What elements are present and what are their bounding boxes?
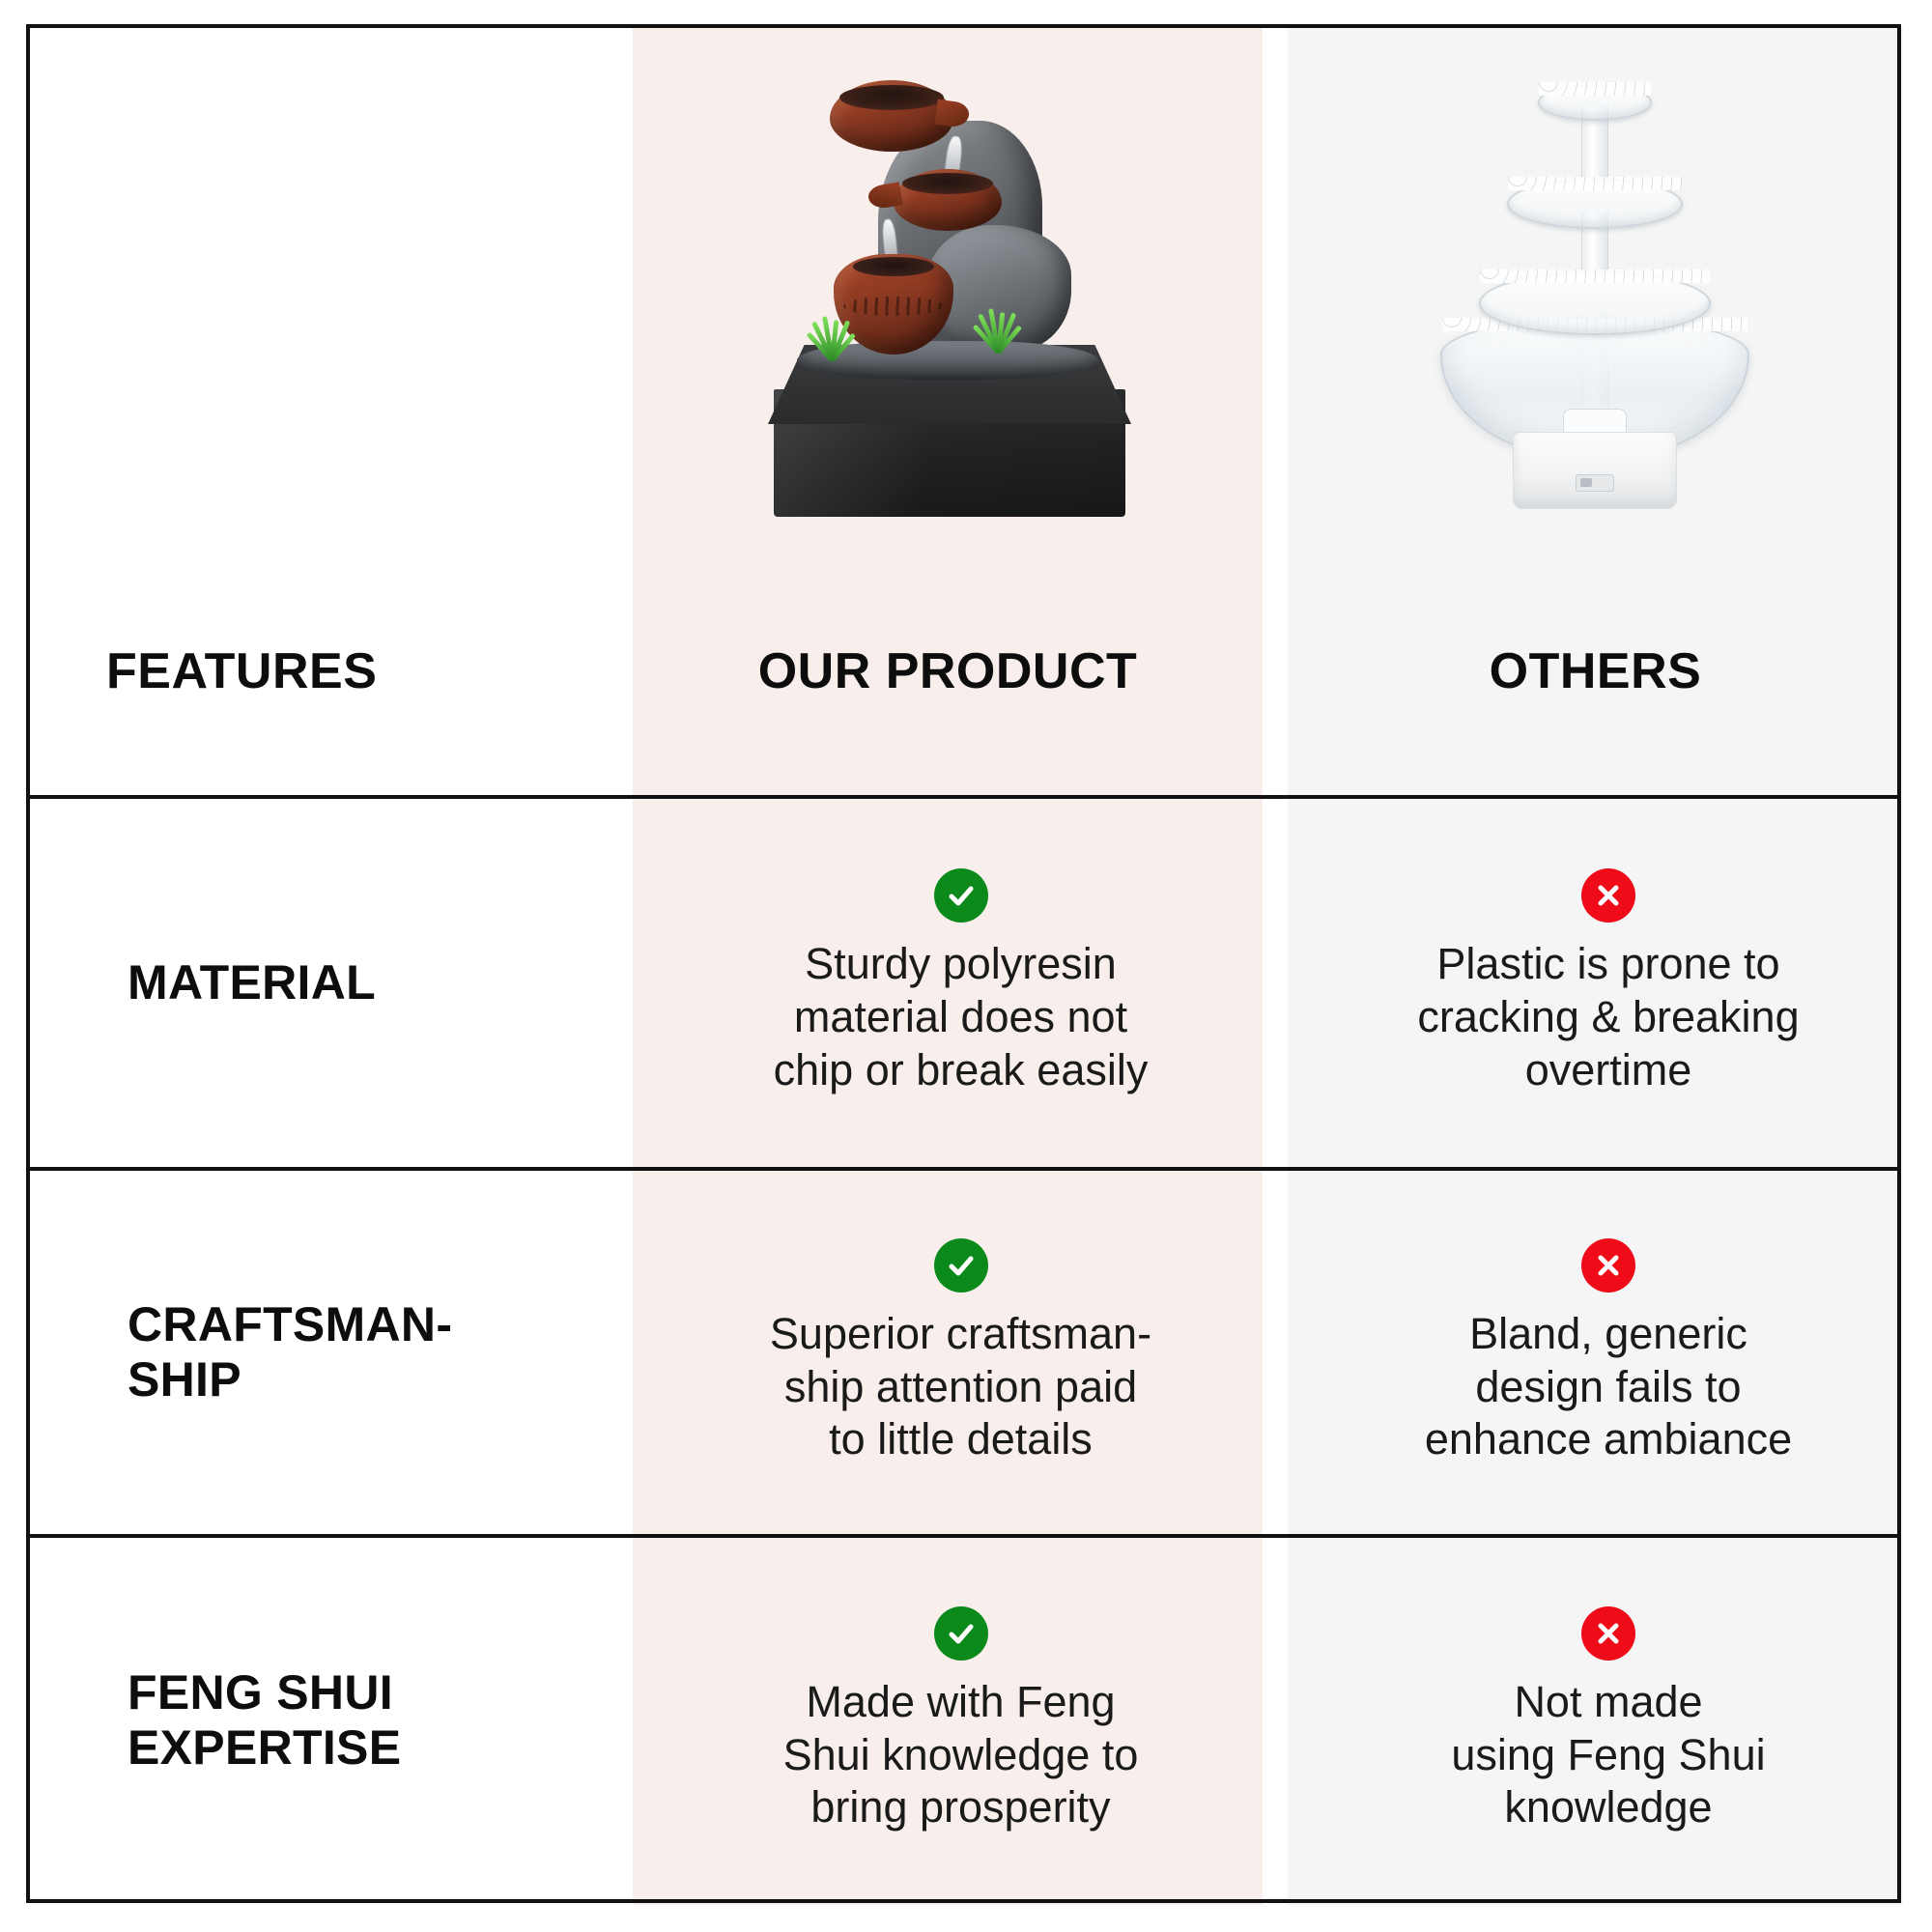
column-header-features: FEATURES: [106, 618, 377, 724]
check-icon: [934, 1238, 988, 1293]
column-header-our-product-label: OUR PRODUCT: [758, 645, 1138, 698]
our-product-cell-feng-shui: Made with Feng Shui knowledge to bring p…: [633, 1538, 1289, 1903]
plastic-fountain-image: [1402, 49, 1788, 503]
grass-tuft-right: [965, 302, 1027, 353]
check-icon: [934, 868, 988, 923]
column-header-others-label: OTHERS: [1490, 645, 1702, 698]
our-product-cell-material: Sturdy polyresin material does not chip …: [633, 799, 1289, 1167]
our-product-text-feng-shui: Made with Feng Shui knowledge to bring p…: [783, 1676, 1139, 1835]
pot-fountain-image: [756, 55, 1143, 499]
cross-icon: [1581, 1606, 1635, 1661]
table-row: MATERIAL Sturdy polyresin material does …: [26, 799, 1901, 1167]
cross-icon: [1581, 1238, 1635, 1293]
fountain-power-switch: [1576, 474, 1614, 492]
cross-icon: [1581, 868, 1635, 923]
others-cell-feng-shui: Not made using Feng Shui knowledge: [1288, 1538, 1929, 1903]
our-product-text-material: Sturdy polyresin material does not chip …: [774, 938, 1149, 1097]
tier-1-scallop-rim: [1539, 82, 1651, 96]
grass-tuft-left: [799, 310, 861, 360]
table-row: CRAFTSMAN- SHIP Superior craftsman- ship…: [26, 1171, 1901, 1534]
our-product-cell-craftsmanship: Superior craftsman- ship attention paid …: [633, 1171, 1289, 1534]
our-product-text-craftsmanship: Superior craftsman- ship attention paid …: [770, 1308, 1151, 1467]
others-text-craftsmanship: Bland, generic design fails to enhance a…: [1425, 1308, 1792, 1467]
table-row: FENG SHUI EXPERTISE Made with Feng Shui …: [26, 1538, 1901, 1903]
terracotta-pot-middle: [894, 169, 1002, 231]
fountain-motor-base: [1513, 432, 1677, 509]
column-header-our-product: OUR PRODUCT: [633, 618, 1263, 724]
feature-label-cell: FENG SHUI EXPERTISE: [128, 1538, 639, 1903]
feature-label-feng-shui-expertise: FENG SHUI EXPERTISE: [128, 1665, 401, 1776]
feature-label-cell: MATERIAL: [128, 799, 639, 1167]
others-cell-material: Plastic is prone to cracking & breaking …: [1288, 799, 1929, 1167]
product-image-row: [26, 28, 1901, 511]
others-cell-craftsmanship: Bland, generic design fails to enhance a…: [1288, 1171, 1929, 1534]
terracotta-pot-top: [830, 80, 953, 152]
comparison-table-page: FEATURES OUR PRODUCT OTHERS MATERIAL Stu…: [0, 0, 1932, 1932]
check-icon: [934, 1606, 988, 1661]
others-product-image: [1288, 28, 1903, 511]
others-text-feng-shui: Not made using Feng Shui knowledge: [1451, 1676, 1765, 1835]
others-text-material: Plastic is prone to cracking & breaking …: [1417, 938, 1799, 1097]
feature-label-craftsmanship: CRAFTSMAN- SHIP: [128, 1297, 452, 1408]
our-product-image: [633, 28, 1263, 511]
tier-2-scallop-rim: [1508, 177, 1682, 190]
tier-3-scallop-rim: [1480, 270, 1710, 283]
column-header-features-label: FEATURES: [106, 645, 377, 698]
column-header-others: OTHERS: [1288, 618, 1903, 724]
feature-label-material: MATERIAL: [128, 955, 376, 1011]
feature-label-cell: CRAFTSMAN- SHIP: [128, 1171, 639, 1534]
